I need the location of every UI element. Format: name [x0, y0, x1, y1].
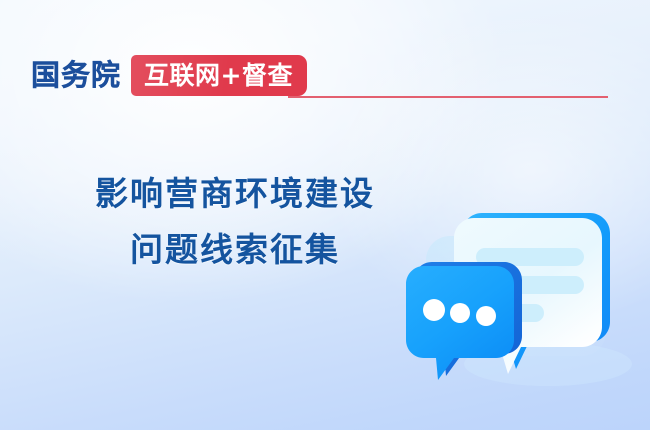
organization-name: 国务院: [31, 61, 121, 90]
header-divider-rule: [288, 96, 608, 98]
program-badge: 互联网+督查: [131, 55, 307, 96]
banner-canvas: 国务院 互联网+督查 影响营商环境建设 问题线索征集: [0, 0, 650, 430]
program-badge-label: 互联网+督查: [144, 63, 293, 88]
chat-bubbles-svg: [398, 196, 634, 404]
chat-bubbles-illustration: [398, 196, 634, 404]
header-logo-lockup: 国务院 互联网+督查: [31, 52, 307, 98]
